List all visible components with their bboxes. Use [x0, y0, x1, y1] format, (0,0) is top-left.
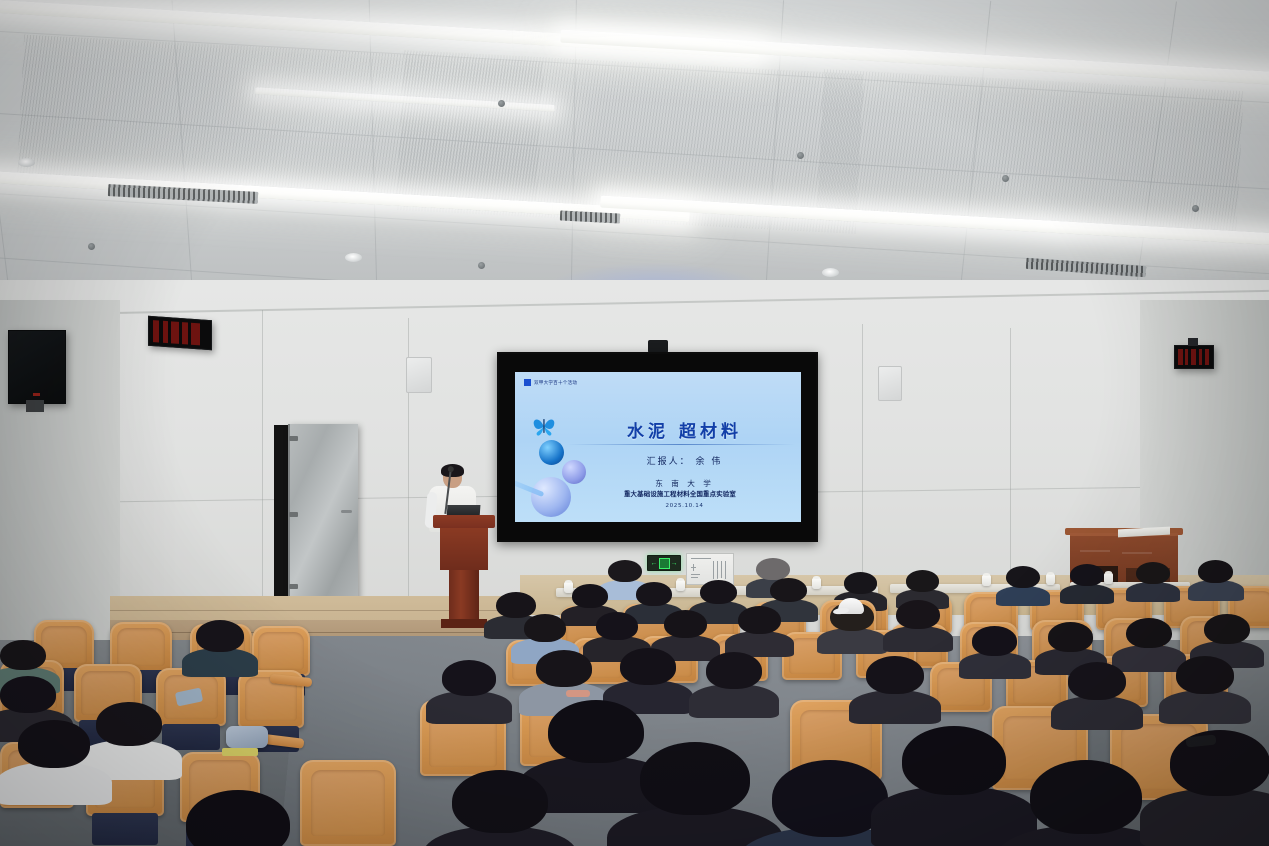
wall-speaker-center-left [406, 357, 432, 393]
projection-screen: 双甲大学百十个活动 水泥 超材料 汇报人： 余 伟 东 南 大 学 重大基础设施… [497, 352, 818, 542]
audience-person [548, 700, 644, 796]
audience-person [664, 610, 707, 653]
slide-laboratory: 重大基础设施工程材料全国重点实验室 [555, 489, 801, 498]
audience-person [1198, 560, 1233, 595]
metal-fire-door[interactable] [288, 424, 358, 611]
audience-person [620, 648, 676, 704]
red-led-display-right [1174, 345, 1214, 369]
exit-right-arrow-icon: → [671, 560, 678, 567]
sprinkler-head [498, 100, 505, 107]
lecture-hall-photo: 双甲大学百十个活动 水泥 超材料 汇报人： 余 伟 东 南 大 学 重大基础设施… [0, 0, 1269, 846]
audience-person [1204, 614, 1250, 660]
sprinkler-head [1192, 205, 1199, 212]
exit-left-arrow-icon: ← [651, 560, 658, 567]
slide-organization: 东 南 大 学 [577, 478, 792, 489]
audience-person [640, 742, 750, 846]
audience-person [186, 790, 290, 846]
teacup [1046, 574, 1055, 585]
audience-person [1176, 656, 1234, 714]
audience-person [906, 570, 939, 603]
audience-person [96, 702, 162, 768]
presentation-slide: 双甲大学百十个活动 水泥 超材料 汇报人： 余 伟 东 南 大 学 重大基础设施… [515, 372, 801, 522]
audience-person [896, 600, 940, 644]
exit-sign: ← → [647, 555, 681, 571]
speaker-bracket [26, 400, 44, 412]
ceiling-downlight [345, 253, 362, 262]
sprinkler-head [478, 262, 485, 269]
ceiling-downlight [822, 268, 839, 277]
slide-header: 双甲大学百十个活动 [524, 379, 577, 386]
slide-date: 2025.10.14 [577, 503, 792, 509]
audience-person [1068, 662, 1126, 720]
slide-presenter: 汇报人： 余 伟 [577, 454, 792, 467]
sprinkler-head [1002, 175, 1009, 182]
butterfly-icon [531, 416, 557, 436]
photonic-sphere-icon [539, 440, 564, 465]
audience-person [442, 660, 496, 714]
auditorium-seat[interactable] [300, 760, 396, 846]
audience-person [1006, 566, 1040, 600]
sprinkler-head [797, 152, 804, 159]
slide-title: 水泥 超材料 [577, 417, 792, 442]
audience-person-with-cap [830, 602, 874, 646]
student-bag [226, 726, 268, 748]
notebook [222, 748, 258, 756]
sprinkler-head [88, 243, 95, 250]
slide-header-text: 双甲大学百十个活动 [534, 380, 577, 386]
audience-person [452, 770, 548, 846]
audience-person [866, 656, 924, 714]
audience-person [1126, 618, 1172, 664]
wall-speaker-center-right [878, 366, 902, 401]
audience-person [18, 720, 90, 792]
audience-person [738, 606, 781, 649]
auditorium-seat[interactable] [252, 626, 310, 676]
teacup [982, 575, 991, 586]
audience-person [536, 650, 592, 706]
exit-running-man-icon [659, 558, 670, 569]
slide-header-bullet-icon [524, 379, 531, 386]
audience-person [902, 726, 1006, 830]
red-led-display-left [148, 316, 212, 350]
audience-person [1030, 760, 1142, 846]
wooden-podium [433, 515, 495, 630]
teacup [1104, 573, 1113, 584]
audience-person [972, 626, 1017, 671]
teacup [812, 578, 821, 589]
ceiling-downlight [18, 158, 35, 167]
white-cap [838, 598, 864, 614]
hair-highlight [566, 690, 590, 697]
slide-divider [567, 444, 795, 445]
audience-person [706, 652, 762, 708]
door-handle[interactable] [341, 510, 352, 513]
audience-person [1136, 562, 1170, 596]
teacup [676, 580, 685, 591]
audience-person [1048, 622, 1093, 667]
audience-person [1170, 730, 1269, 830]
led-display-mount [1188, 338, 1198, 346]
wall-speaker-left [8, 330, 66, 404]
audience-person [196, 620, 244, 668]
audience-person [1070, 564, 1104, 598]
